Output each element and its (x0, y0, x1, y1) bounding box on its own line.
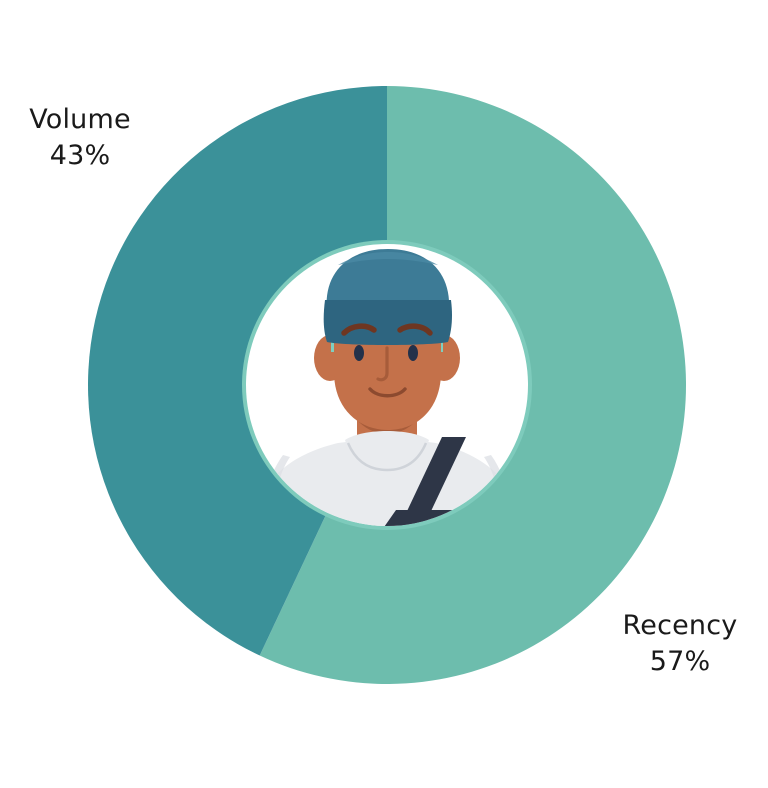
slice-label-volume-name: Volume (29, 104, 131, 135)
slice-label-recency: Recency 57% (612, 608, 748, 679)
slice-label-recency-percent: 57% (612, 644, 748, 680)
slice-label-volume-percent: 43% (18, 138, 142, 174)
avatar-eye-right (408, 345, 418, 361)
avatar-beanie-band (324, 300, 452, 345)
slice-label-volume: Volume 43% (18, 102, 142, 173)
slice-label-recency-name: Recency (623, 610, 738, 641)
avatar-eye-left (354, 345, 364, 361)
